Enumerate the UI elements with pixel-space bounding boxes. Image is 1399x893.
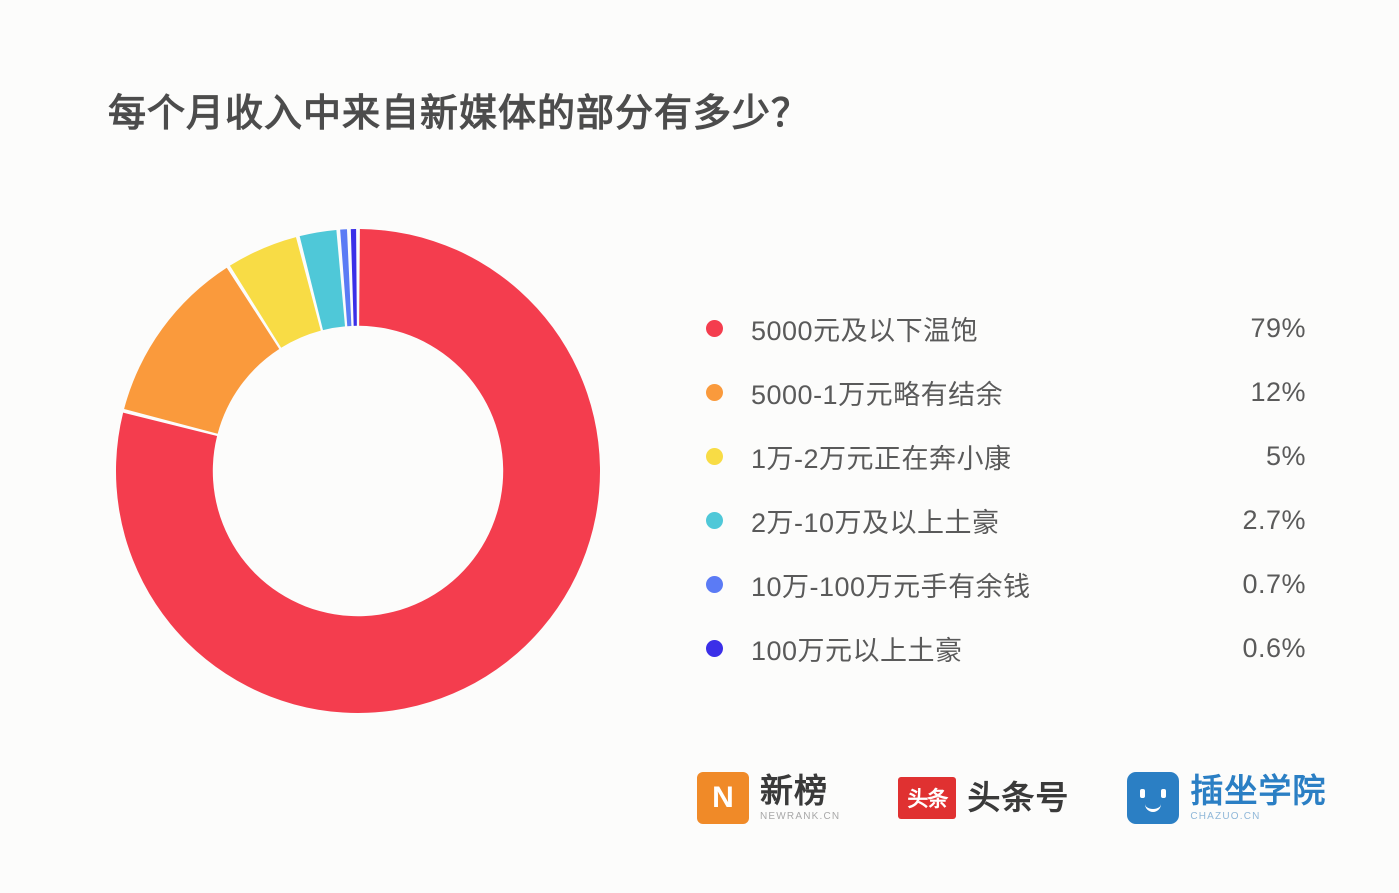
legend-item-label: 1万-2万元正在奔小康 [751,437,1194,476]
donut-chart [113,226,603,716]
logo-chazuo: 插坐学院 CHAZUO.CN [1127,772,1326,824]
legend-color-swatch-icon [706,576,723,593]
newrank-mark-letter: N [712,781,734,815]
legend-item-label: 100万元以上土豪 [751,629,1194,668]
legend-item-label: 2万-10万及以上土豪 [751,501,1194,540]
toutiaohao-logo-text: 头条号 [967,781,1069,816]
newrank-logo-name: 新榜 [760,774,840,809]
chazuo-logo-text: 插坐学院 CHAZUO.CN [1190,774,1326,823]
chazuo-logo-tagline: CHAZUO.CN [1190,811,1326,822]
newrank-logo-text: 新榜 NEWRANK.CN [760,774,840,823]
legend-item-value: 79% [1194,313,1306,344]
page-title: 每个月收入中来自新媒体的部分有多少？ [108,82,810,137]
legend-item[interactable]: 5000元及以下温饱79% [706,296,1306,360]
legend-item-value: 12% [1194,377,1306,408]
legend-item-value: 0.7% [1194,569,1306,600]
legend-item-label: 5000-1万元略有结余 [751,373,1194,412]
legend-item-label: 10万-100万元手有余钱 [751,565,1194,604]
chazuo-face-right-eye [1161,789,1166,798]
chazuo-face-mouth [1145,804,1161,812]
legend-color-swatch-icon [706,320,723,337]
legend-item[interactable]: 10万-100万元手有余钱0.7% [706,552,1306,616]
legend-item[interactable]: 5000-1万元略有结余12% [706,360,1306,424]
chazuo-face-left-eye [1140,789,1145,798]
toutiaohao-mark-letter: 头条 [907,783,947,813]
donut-chart-svg [113,226,603,716]
legend-item-label: 5000元及以下温饱 [751,309,1194,348]
legend-item[interactable]: 2万-10万及以上土豪2.7% [706,488,1306,552]
legend-color-swatch-icon [706,448,723,465]
donut-slice-group [116,229,600,713]
legend-item-value: 5% [1194,441,1306,472]
footer-logo-bar: N 新榜 NEWRANK.CN 头条 头条号 插坐学院 CHAZUO.CN [697,772,1326,824]
legend-color-swatch-icon [706,640,723,657]
newrank-logo-icon: N [697,772,749,824]
legend-item-value: 0.6% [1194,633,1306,664]
legend-color-swatch-icon [706,512,723,529]
newrank-logo-tagline: NEWRANK.CN [760,811,840,822]
chazuo-logo-name: 插坐学院 [1190,774,1326,809]
legend-color-swatch-icon [706,384,723,401]
toutiaohao-logo-icon: 头条 [898,777,956,819]
donut-slice[interactable] [351,229,357,326]
legend-item[interactable]: 100万元以上土豪0.6% [706,616,1306,680]
legend-item-value: 2.7% [1194,505,1306,536]
logo-toutiaohao: 头条 头条号 [898,777,1069,819]
logo-newrank: N 新榜 NEWRANK.CN [697,772,840,824]
chart-legend: 5000元及以下温饱79%5000-1万元略有结余12%1万-2万元正在奔小康5… [706,296,1306,680]
legend-item[interactable]: 1万-2万元正在奔小康5% [706,424,1306,488]
chazuo-logo-icon [1127,772,1179,824]
toutiaohao-logo-name: 头条号 [967,781,1069,816]
